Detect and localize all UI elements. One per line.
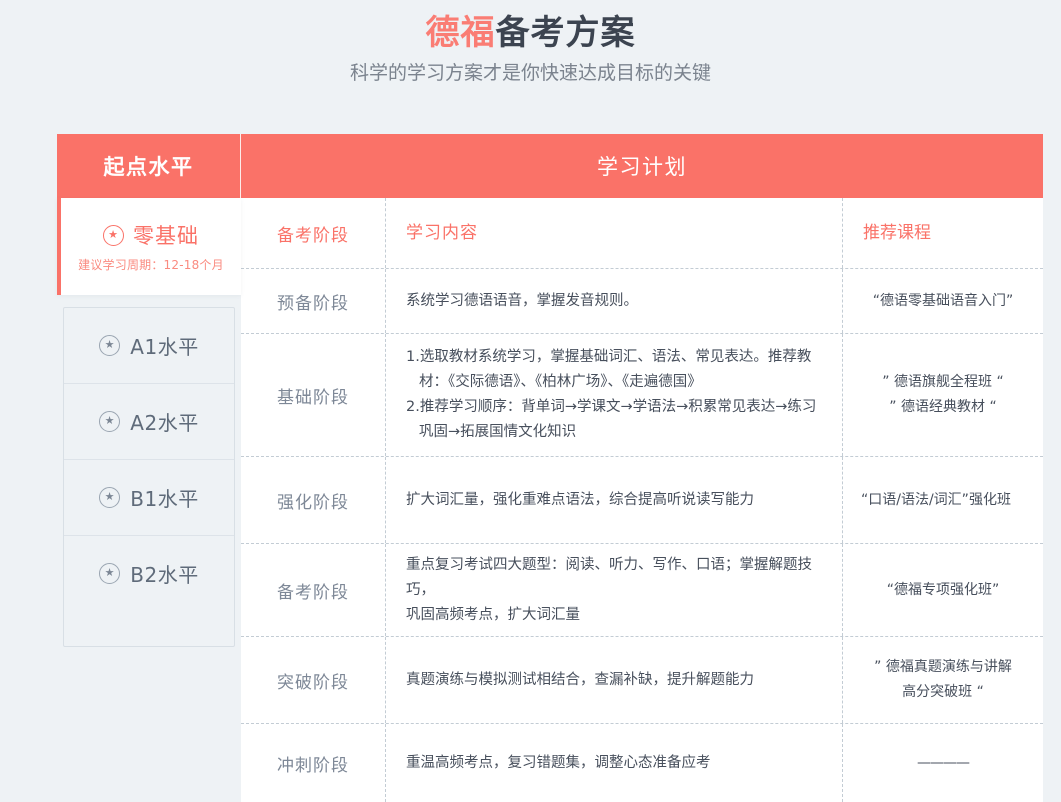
plan-content-line: 扩大词汇量，强化重难点语法，综合提高听说读写能力 bbox=[406, 488, 754, 513]
plan-content: 扩大词汇量，强化重难点语法，综合提高听说读写能力 bbox=[386, 457, 843, 543]
level-item-label: B2水平 bbox=[130, 559, 198, 588]
table-row: 冲刺阶段 重温高频考点，复习错题集，调整心态准备应考 ———— bbox=[241, 724, 1043, 802]
level-item-a2[interactable]: A2水平 bbox=[64, 384, 234, 460]
star-circle-icon bbox=[99, 411, 120, 432]
plan-course-line: “德福专项强化班” bbox=[887, 578, 1000, 603]
level-selector: 零基础 建议学习周期：12-18个月 A1水平 A2水平 B1水平 bbox=[57, 198, 241, 647]
board-header-row: 起点水平 学习计划 bbox=[57, 134, 1043, 198]
level-active-name: 零基础 bbox=[133, 221, 199, 251]
plan-stage: 预备阶段 bbox=[241, 269, 386, 333]
level-item-label: A2水平 bbox=[130, 407, 198, 436]
table-row: 备考阶段 重点复习考试四大题型：阅读、听力、写作、口语；掌握解题技巧， 巩固高频… bbox=[241, 544, 1043, 637]
board-body: 零基础 建议学习周期：12-18个月 A1水平 A2水平 B1水平 bbox=[57, 198, 1043, 802]
plan-content-line: 2.推荐学习顺序：背单词→学课文→学语法→积累常见表达→练习 bbox=[406, 395, 816, 420]
page-subtitle: 科学的学习方案才是你快速达成目标的关键 bbox=[0, 58, 1061, 88]
plan-content: 重温高频考点，复习错题集，调整心态准备应考 bbox=[386, 724, 843, 802]
plan-course: ” 德福真题演练与讲解 高分突破班 “ bbox=[843, 637, 1043, 723]
plan-table: 备考阶段 学习内容 推荐课程 预备阶段 系统学习德语语音，掌握发音规则。 “德语… bbox=[241, 198, 1043, 802]
level-item-label: A1水平 bbox=[130, 331, 198, 360]
plan-course: “德语零基础语音入门” bbox=[843, 269, 1043, 333]
plan-table-header: 备考阶段 学习内容 推荐课程 bbox=[241, 198, 1043, 269]
plan-course: “口语/语法/词汇”强化班 bbox=[843, 457, 1043, 543]
plan-content: 重点复习考试四大题型：阅读、听力、写作、口语；掌握解题技巧， 巩固高频考点，扩大… bbox=[386, 544, 843, 636]
plan-content: 真题演练与模拟测试相结合，查漏补缺，提升解题能力 bbox=[386, 637, 843, 723]
plan-course: ” 德语旗舰全程班 “ ” 德语经典教材 “ bbox=[843, 334, 1043, 456]
plan-stage: 突破阶段 bbox=[241, 637, 386, 723]
plan-course-line: ———— bbox=[917, 751, 969, 776]
level-item-b1[interactable]: B1水平 bbox=[64, 460, 234, 536]
board-header-study-plan: 学习计划 bbox=[241, 134, 1043, 198]
plan-course-line: “德语零基础语音入门” bbox=[873, 289, 1014, 314]
plan-stage: 强化阶段 bbox=[241, 457, 386, 543]
plan-course-line: ” 德福真题演练与讲解 bbox=[874, 655, 1012, 680]
plan-col-header-content: 学习内容 bbox=[386, 198, 843, 268]
level-item-b2[interactable]: B2水平 bbox=[64, 536, 234, 611]
plan-course-line: “口语/语法/词汇”强化班 bbox=[861, 488, 1011, 513]
page-title: 德福备考方案 bbox=[0, 10, 1061, 56]
level-item-zero-basis[interactable]: 零基础 建议学习周期：12-18个月 bbox=[57, 198, 241, 295]
plan-content-line: 重点复习考试四大题型：阅读、听力、写作、口语；掌握解题技巧， bbox=[406, 553, 818, 603]
level-active-title: 零基础 bbox=[103, 221, 199, 251]
plan-content-line: 巩固高频考点，扩大词汇量 bbox=[406, 603, 818, 628]
study-plan-board: 起点水平 学习计划 零基础 建议学习周期：12-18个月 A1水平 A2水平 bbox=[57, 134, 1043, 802]
plan-stage: 冲刺阶段 bbox=[241, 724, 386, 802]
plan-content-line: 真题演练与模拟测试相结合，查漏补缺，提升解题能力 bbox=[406, 668, 754, 693]
plan-course: “德福专项强化班” bbox=[843, 544, 1043, 636]
table-row: 预备阶段 系统学习德语语音，掌握发音规则。 “德语零基础语音入门” bbox=[241, 269, 1043, 334]
level-item-label: B1水平 bbox=[130, 483, 198, 512]
table-row: 基础阶段 1.选取教材系统学习，掌握基础词汇、语法、常见表达。推荐教 材：《交际… bbox=[241, 334, 1043, 457]
page-title-highlight: 德福 bbox=[426, 13, 496, 53]
page-title-rest: 备考方案 bbox=[496, 13, 636, 53]
star-circle-icon bbox=[103, 225, 124, 246]
level-item-a1[interactable]: A1水平 bbox=[64, 308, 234, 384]
plan-content-line: 巩固→拓展国情文化知识 bbox=[406, 420, 816, 445]
plan-course-line: ” 德语经典教材 “ bbox=[882, 395, 1003, 420]
plan-stage: 基础阶段 bbox=[241, 334, 386, 456]
plan-course: ———— bbox=[843, 724, 1043, 802]
plan-content-line: 系统学习德语语音，掌握发音规则。 bbox=[406, 289, 638, 314]
board-header-start-level: 起点水平 bbox=[57, 134, 241, 198]
plan-col-header-course: 推荐课程 bbox=[843, 198, 1043, 268]
star-circle-icon bbox=[99, 335, 120, 356]
plan-stage: 备考阶段 bbox=[241, 544, 386, 636]
star-circle-icon bbox=[99, 487, 120, 508]
page-header: 德福备考方案 科学的学习方案才是你快速达成目标的关键 bbox=[0, 0, 1061, 88]
plan-content: 1.选取教材系统学习，掌握基础词汇、语法、常见表达。推荐教 材：《交际德语》、《… bbox=[386, 334, 843, 456]
star-circle-icon bbox=[99, 563, 120, 584]
level-list: A1水平 A2水平 B1水平 B2水平 bbox=[63, 307, 235, 647]
plan-content-line: 材：《交际德语》、《柏林广场》、《走遍德国》 bbox=[406, 370, 816, 395]
plan-course-line: 高分突破班 “ bbox=[874, 680, 1012, 705]
plan-course-line: ” 德语旗舰全程班 “ bbox=[882, 370, 1003, 395]
plan-content-line: 1.选取教材系统学习，掌握基础词汇、语法、常见表达。推荐教 bbox=[406, 345, 816, 370]
plan-content: 系统学习德语语音，掌握发音规则。 bbox=[386, 269, 843, 333]
plan-col-header-stage: 备考阶段 bbox=[241, 198, 386, 268]
table-row: 强化阶段 扩大词汇量，强化重难点语法，综合提高听说读写能力 “口语/语法/词汇”… bbox=[241, 457, 1043, 544]
plan-content-line: 重温高频考点，复习错题集，调整心态准备应考 bbox=[406, 751, 711, 776]
table-row: 突破阶段 真题演练与模拟测试相结合，查漏补缺，提升解题能力 ” 德福真题演练与讲… bbox=[241, 637, 1043, 724]
level-active-period: 建议学习周期：12-18个月 bbox=[78, 256, 224, 273]
